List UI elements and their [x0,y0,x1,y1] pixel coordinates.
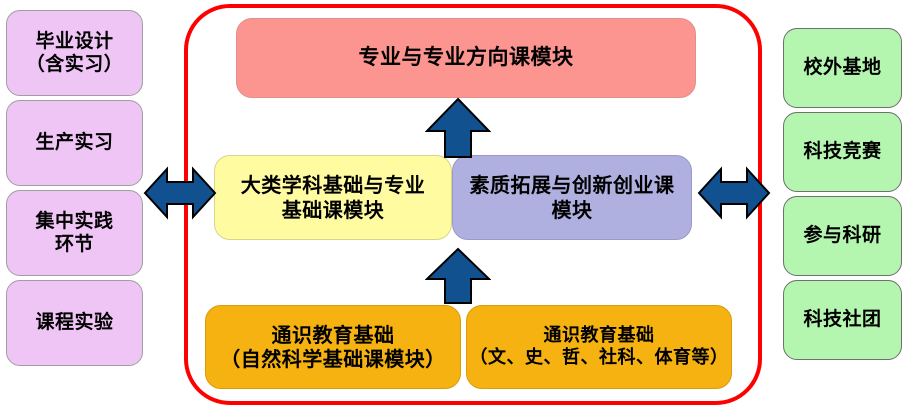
diagram-canvas: 毕业设计 （含实习） 生产实习 集中实践 环节 课程实验 校外基地 科技竞赛 参… [0,0,908,411]
module-major-and-direction-courses[interactable]: 专业与专业方向课模块 [236,18,696,98]
practice-item-graduation-design[interactable]: 毕业设计 （含实习） [6,10,143,96]
module-quality-expansion-and-innovation[interactable]: 素质拓展与创新创业课 模块 [452,155,692,240]
module-discipline-and-major-foundation[interactable]: 大类学科基础与专业 基础课模块 [214,155,452,240]
module-general-education-natural-science[interactable]: 通识教育基础 （自然科学基础课模块） [205,305,461,389]
arrow-left-bidirectional-icon [143,160,217,226]
practice-item-course-experiment[interactable]: 课程实验 [6,280,143,366]
innovation-item-off-campus-base[interactable]: 校外基地 [783,28,902,108]
innovation-item-research-participation[interactable]: 参与科研 [783,196,902,276]
practice-item-intensive-practice[interactable]: 集中实践 环节 [6,190,143,276]
innovation-item-tech-club[interactable]: 科技社团 [783,280,902,360]
innovation-item-tech-competition[interactable]: 科技竞赛 [783,112,902,192]
arrow-up-to-discipline-icon [425,247,491,305]
module-general-education-humanities[interactable]: 通识教育基础 （文、史、哲、社科、体育等） [466,305,732,389]
practice-item-production-internship[interactable]: 生产实习 [6,100,143,186]
arrow-up-to-major-icon [425,97,491,159]
arrow-right-bidirectional-icon [697,160,771,226]
